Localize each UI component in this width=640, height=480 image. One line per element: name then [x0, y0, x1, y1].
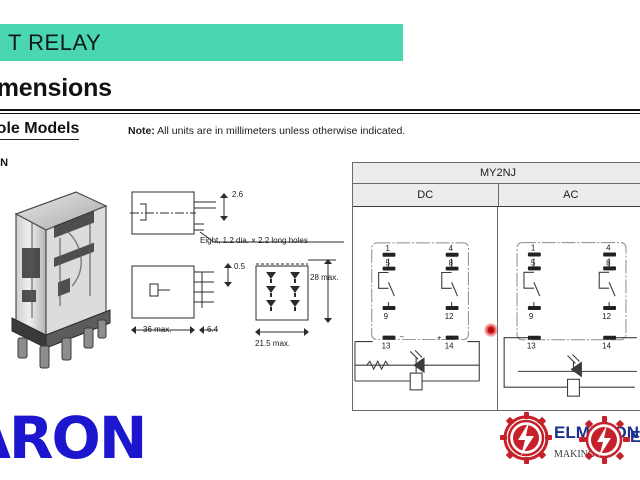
dc-polarity-plus: + — [437, 334, 442, 343]
ac-terminal-9: 9 — [529, 312, 534, 321]
units-note-text: All units are in millimeters unless othe… — [155, 125, 405, 137]
schematic-cell-ac: 1 5 9 13 4 8 12 14 — [498, 207, 640, 410]
ac-terminal-4: 4 — [606, 244, 611, 253]
dc-terminal-8: 8 — [449, 259, 454, 268]
slide-canvas: T RELAY imensions Pole Models Note: All … — [0, 0, 640, 480]
ac-terminal-1: 1 — [531, 244, 536, 253]
dim-callout-holes: Eight, 1.2 dia. × 2.2 long holes — [200, 236, 308, 245]
dim-callout-6-4: 6.4 — [207, 325, 218, 334]
dc-polarity-minus: − — [399, 333, 404, 342]
subsection-title: Pole Models — [0, 120, 79, 140]
model-label: 2N — [0, 157, 8, 169]
ac-terminal-8: 8 — [606, 258, 611, 267]
cursor-core — [488, 327, 494, 333]
ac-terminal-5: 5 — [531, 258, 536, 267]
cursor-dot — [484, 323, 498, 337]
ac-wiring-diagram: 1 5 9 13 4 8 12 14 — [498, 207, 640, 410]
schematic-table: MY2NJ DC AC — [352, 162, 640, 411]
table-header-row: DC AC — [353, 184, 640, 207]
page-title: imensions — [0, 74, 112, 103]
dim-callout-36-max: 36 max. — [143, 325, 171, 334]
table-body: 1 5 9 13 4 8 12 14 − + — [353, 207, 640, 410]
dim-callout-28-max: 28 max. — [310, 273, 338, 282]
heading-divider-2 — [0, 113, 640, 114]
banner-title: T RELAY — [8, 30, 101, 56]
dc-terminal-1: 1 — [386, 244, 390, 253]
dc-terminal-4: 4 — [449, 244, 454, 253]
units-note: Note: All units are in millimeters unles… — [128, 125, 405, 137]
dc-terminal-13: 13 — [382, 341, 391, 350]
elmecon-wordmark-secondary: E — [630, 429, 640, 446]
omron-logo: ΛRON — [0, 404, 145, 472]
dc-terminal-5: 5 — [386, 259, 391, 268]
schematic-cell-dc: 1 5 9 13 4 8 12 14 − + — [353, 207, 498, 410]
gear-lightning-icon — [500, 412, 552, 464]
dim-callout-0-5: 0.5 — [234, 262, 245, 271]
heading-divider — [0, 109, 640, 111]
table-header-model: MY2NJ — [353, 163, 640, 184]
gear-lightning-icon-secondary — [579, 416, 630, 464]
ac-terminal-12: 12 — [602, 312, 611, 321]
dc-terminal-12: 12 — [445, 312, 454, 321]
elmecon-logo-secondary: E — [578, 414, 640, 470]
dc-wiring-diagram: 1 5 9 13 4 8 12 14 − + — [353, 207, 497, 410]
dc-terminal-9: 9 — [384, 312, 388, 321]
ac-terminal-13: 13 — [527, 342, 536, 351]
dc-terminal-14: 14 — [445, 341, 454, 350]
ac-terminal-14: 14 — [602, 342, 611, 351]
units-note-label: Note: — [128, 125, 155, 137]
column-header-dc: DC — [353, 184, 499, 206]
dim-callout-2-6: 2.6 — [232, 190, 243, 199]
column-header-ac: AC — [499, 184, 640, 206]
dim-callout-21-5-max: 21.5 max. — [255, 339, 290, 348]
relay-photo — [2, 186, 114, 374]
